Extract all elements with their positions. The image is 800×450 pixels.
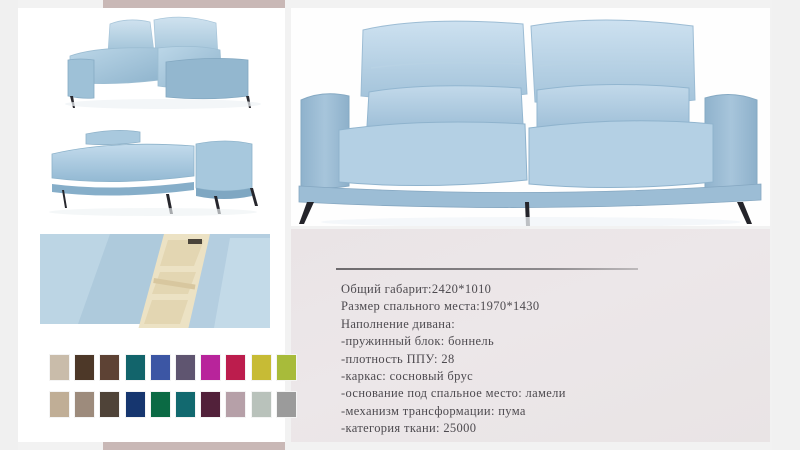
fabric-swatch-teal[interactable] (125, 354, 146, 381)
fabric-swatch-row-2 (49, 391, 297, 418)
spec-divider-rule (336, 268, 638, 270)
fabric-swatch-mauve[interactable] (225, 391, 246, 418)
fabric-swatch-grey-purple[interactable] (175, 354, 196, 381)
sofa-main-front-photo (291, 8, 770, 226)
spec-list: Общий габарит:2420*1010 Размер спального… (341, 281, 761, 438)
spec-line-overall-size: Общий габарит:2420*1010 (341, 281, 761, 298)
spec-line-bed-base: -основание под спальное место: ламели (341, 385, 761, 402)
left-edge-strip (0, 0, 18, 450)
sofa-bed-unfolded-photo (18, 112, 285, 220)
fabric-swatch-sand[interactable] (49, 391, 70, 418)
fabric-swatch-dark-taupe[interactable] (99, 391, 120, 418)
spec-line-filling-header: Наполнение дивана: (341, 316, 761, 333)
spec-line-frame: -каркас: сосновый брус (341, 368, 761, 385)
lamellas-illustration (18, 228, 285, 338)
fabric-swatch-grey[interactable] (276, 391, 297, 418)
sofa-lamellas-mechanism-photo (18, 228, 285, 338)
specification-panel: Общий габарит:2420*1010 Размер спального… (291, 229, 770, 442)
fabric-swatch-magenta[interactable] (200, 354, 221, 381)
fabric-swatch-crimson[interactable] (225, 354, 246, 381)
fabric-swatch-taupe[interactable] (74, 391, 95, 418)
product-slide: Общий габарит:2420*1010 Размер спального… (0, 0, 800, 450)
fabric-swatch-navy[interactable] (125, 391, 146, 418)
sofa-main-illustration (291, 8, 770, 226)
sofa-bed-illustration (18, 112, 285, 220)
fabric-swatch-olive-yellow[interactable] (251, 354, 272, 381)
sofa-front-angle-photo (18, 10, 285, 110)
fabric-swatch-lime-green[interactable] (276, 354, 297, 381)
fabric-swatch-plum[interactable] (200, 391, 221, 418)
fabric-swatch-row-1 (49, 354, 297, 381)
fabric-swatch-deep-teal[interactable] (175, 391, 196, 418)
fabric-swatch-beige[interactable] (49, 354, 70, 381)
spec-line-mechanism: -механизм трансформации: пума (341, 403, 761, 420)
fabric-swatch-royal-blue[interactable] (150, 354, 171, 381)
spec-line-fabric-category: -категория ткани: 25000 (341, 420, 761, 437)
fabric-swatch-area (18, 340, 285, 442)
spec-line-spring-block: -пружинный блок: боннель (341, 333, 761, 350)
sofa-front-angle-illustration (18, 10, 285, 110)
spec-line-sleeping-size: Размер спального места:1970*1430 (341, 298, 761, 315)
fabric-swatch-brown[interactable] (99, 354, 120, 381)
spec-line-foam-density: -плотность ППУ: 28 (341, 351, 761, 368)
right-edge-strip (772, 0, 800, 450)
fabric-swatch-dark-brown[interactable] (74, 354, 95, 381)
fabric-swatch-forest-green[interactable] (150, 391, 171, 418)
fabric-swatch-pale-grey[interactable] (251, 391, 272, 418)
